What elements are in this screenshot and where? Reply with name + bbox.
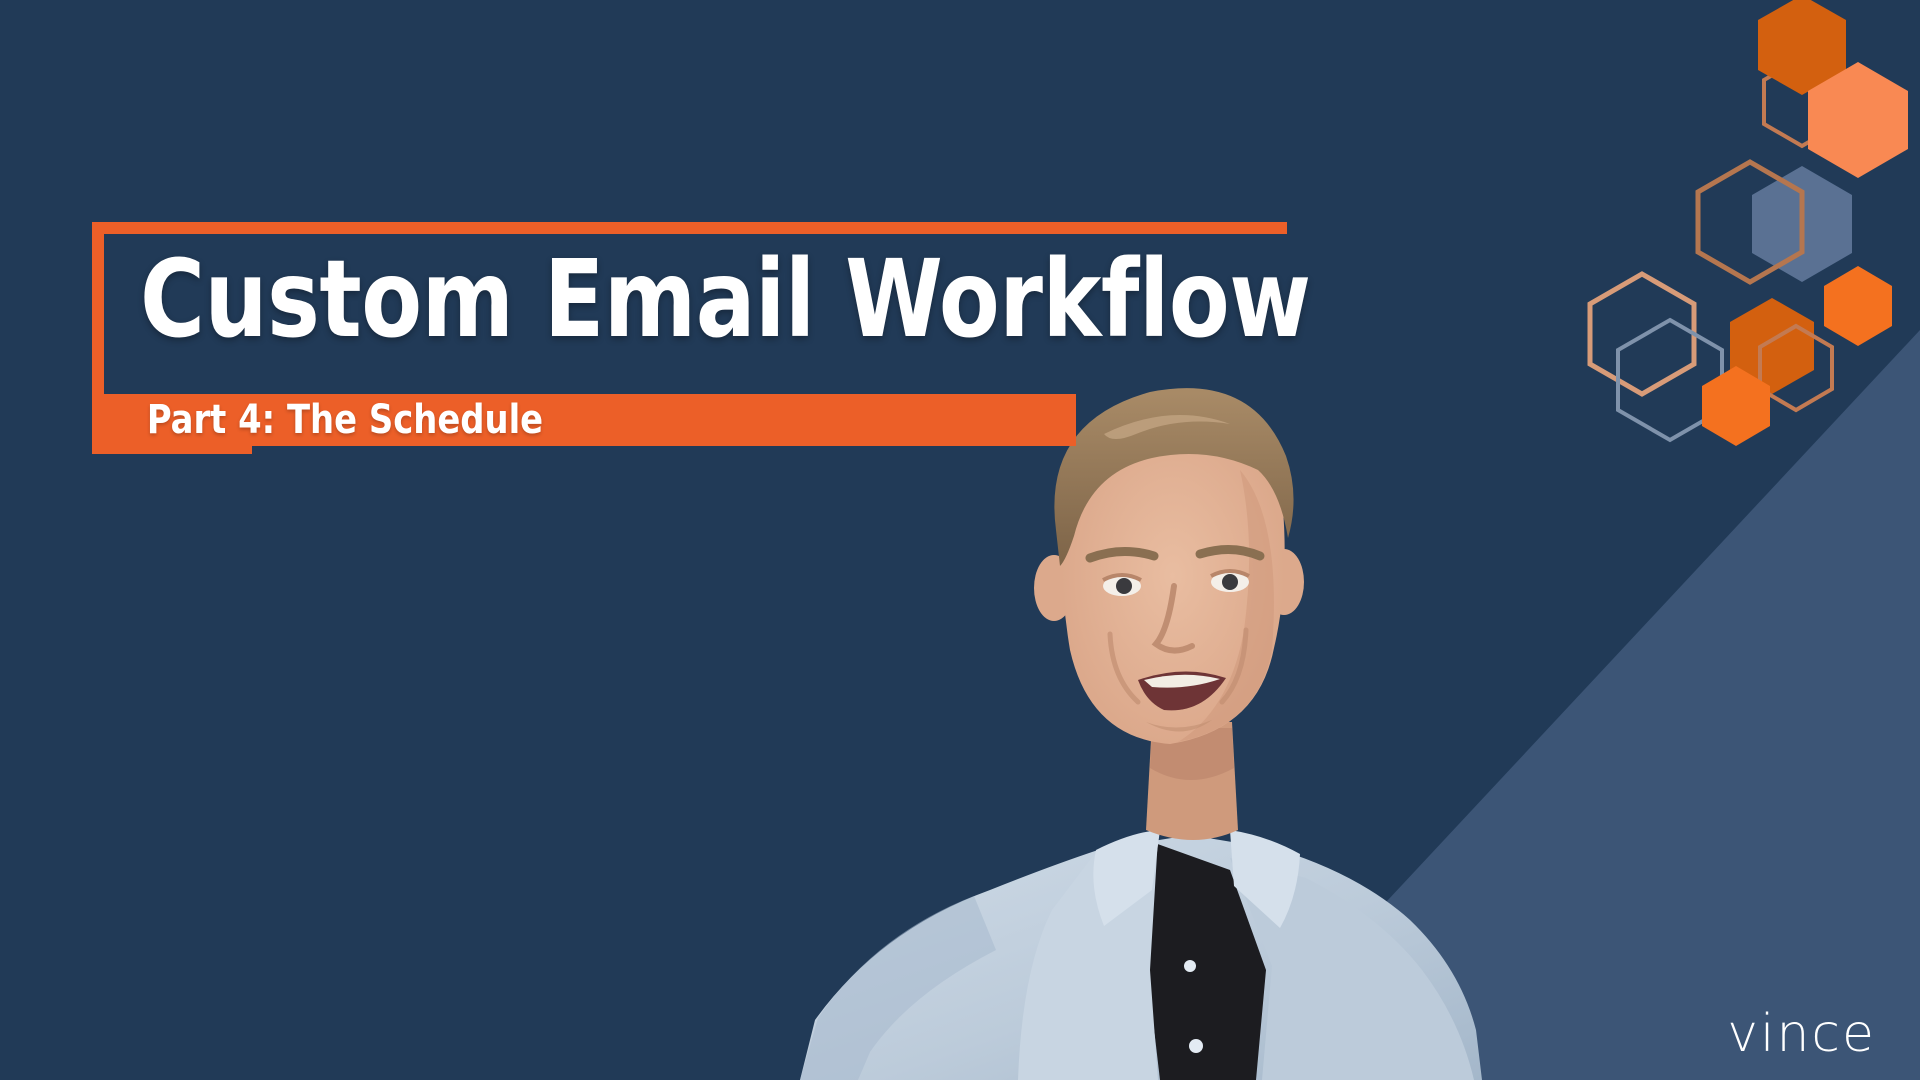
presenter-pupil-left [1116, 578, 1132, 594]
brand-wordmark: vince [1727, 1006, 1876, 1062]
title-lockup: Custom Email Workflow Part 4: The Schedu… [92, 222, 1302, 454]
subtitle-bar: Part 4: The Schedule [98, 394, 1076, 446]
page-title: Custom Email Workflow [140, 244, 1198, 356]
presenter-shirt-button-2 [1189, 1039, 1203, 1053]
presenter-shirt-button-1 [1184, 960, 1196, 972]
hexagon-cluster-decor [1570, 0, 1920, 470]
presenter-pupil-right [1222, 574, 1238, 590]
subtitle-text: Part 4: The Schedule [98, 400, 543, 440]
hexagon-fill-bright-orange-1 [1824, 266, 1892, 346]
slide-canvas: Custom Email Workflow Part 4: The Schedu… [0, 0, 1920, 1080]
bracket-top-rule [92, 222, 1287, 234]
